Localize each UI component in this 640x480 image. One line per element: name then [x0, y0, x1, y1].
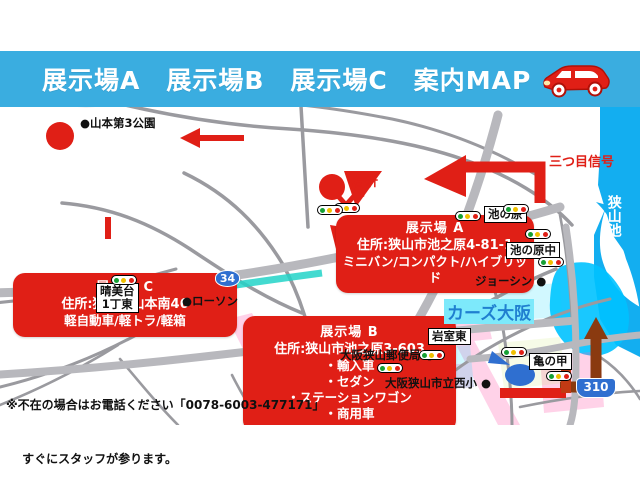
label-joshin: ジョーシン ●: [475, 273, 546, 289]
label-third-signal: 三つ目信号: [549, 151, 614, 170]
callout-b-title: 展示場 B: [247, 325, 452, 342]
label-nishi-elementary: 大阪狭山市立西小 ●: [385, 375, 491, 391]
marker-c: [46, 122, 74, 150]
traffic-signal-icon: [111, 275, 137, 285]
marker-a: [319, 174, 345, 200]
label-cars-osaka[interactable]: カーズ大阪: [444, 299, 534, 324]
traffic-signal-icon: [501, 347, 527, 357]
traffic-signal-icon: [538, 257, 564, 267]
traffic-signal-icon: [546, 371, 572, 381]
traffic-signal-icon: [525, 229, 551, 239]
route-shield-310: 310: [576, 378, 616, 398]
red-car-icon: [538, 57, 612, 101]
footer-line-2: すぐにスタッフが参ります。: [6, 450, 325, 468]
header-banner: 展示場A 展示場B 展示場C 案内MAP: [0, 51, 640, 107]
callout-c-categories: 軽自動車/軽トラ/軽箱: [17, 313, 233, 329]
callout-a-title: 展示場 A: [340, 221, 530, 238]
label-yamamoto-park: ●山本第3公園: [80, 115, 156, 131]
footer-notes: ※不在の場合はお電話ください「0078-6003-477171」 すぐにスタッフ…: [6, 360, 325, 480]
label-iwamuro-higashi: 岩室東: [428, 328, 471, 345]
label-turn-right: 右折: [352, 171, 378, 190]
footer-line-1: ※不在の場合はお電話ください「0078-6003-477171」: [6, 396, 325, 414]
route-arrow-west: [180, 128, 244, 148]
traffic-signal-icon: [377, 363, 403, 373]
route-shield-34: 34: [215, 270, 240, 287]
label-kamenoko: 亀の甲: [529, 353, 572, 370]
traffic-signal-icon: [317, 205, 343, 215]
traffic-signal-icon: [455, 211, 481, 221]
traffic-signal-icon: [503, 204, 529, 214]
traffic-signal-icon: [419, 350, 445, 360]
map-poster: 展示場A 展示場B 展示場C 案内MAP: [0, 0, 640, 480]
callout-a-address: 住所:狭山市池之原4-81-1: [340, 238, 530, 255]
label-sayama-pond: 狭山池: [606, 195, 621, 237]
label-lawson: ●ローソン: [182, 293, 238, 309]
page-title: 展示場A 展示場B 展示場C 案内MAP: [42, 61, 531, 97]
label-harumidai: 晴美台 1丁東: [96, 283, 139, 313]
